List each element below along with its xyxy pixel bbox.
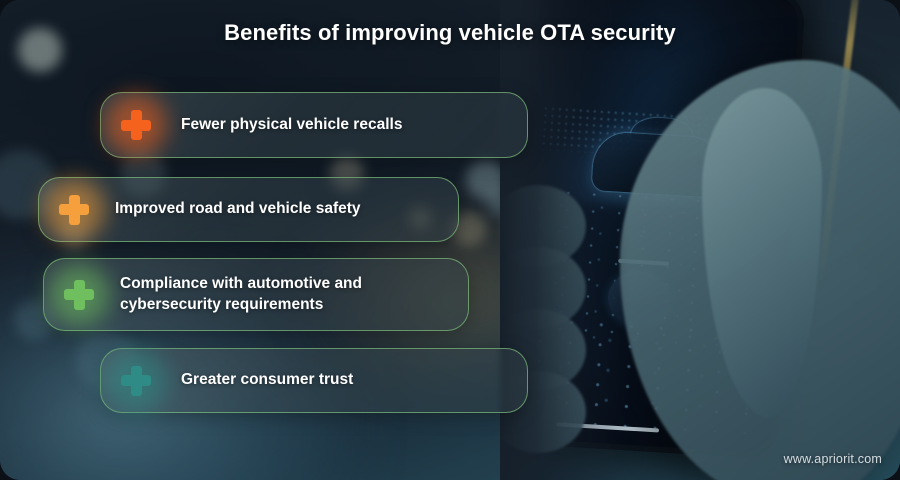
plus-icon [119,364,153,398]
benefit-card[interactable]: Fewer physical vehicle recalls [100,92,528,158]
page-title: Benefits of improving vehicle OTA securi… [0,20,900,46]
plus-icon [57,193,91,227]
watermark-url: www.apriorit.com [784,452,882,466]
benefit-label: Fewer physical vehicle recalls [181,115,402,135]
benefit-card[interactable]: Improved road and vehicle safety [38,177,459,242]
plus-icon [119,108,153,142]
phone-photo [500,0,900,480]
benefit-label: Greater consumer trust [181,370,353,390]
benefit-label: Compliance with automotive and cybersecu… [120,274,362,315]
benefit-card[interactable]: Compliance with automotive and cybersecu… [43,258,469,331]
plus-icon [62,278,96,312]
benefit-label: Improved road and vehicle safety [115,199,361,219]
infographic-card: Benefits of improving vehicle OTA securi… [0,0,900,480]
benefit-card[interactable]: Greater consumer trust [100,348,528,413]
